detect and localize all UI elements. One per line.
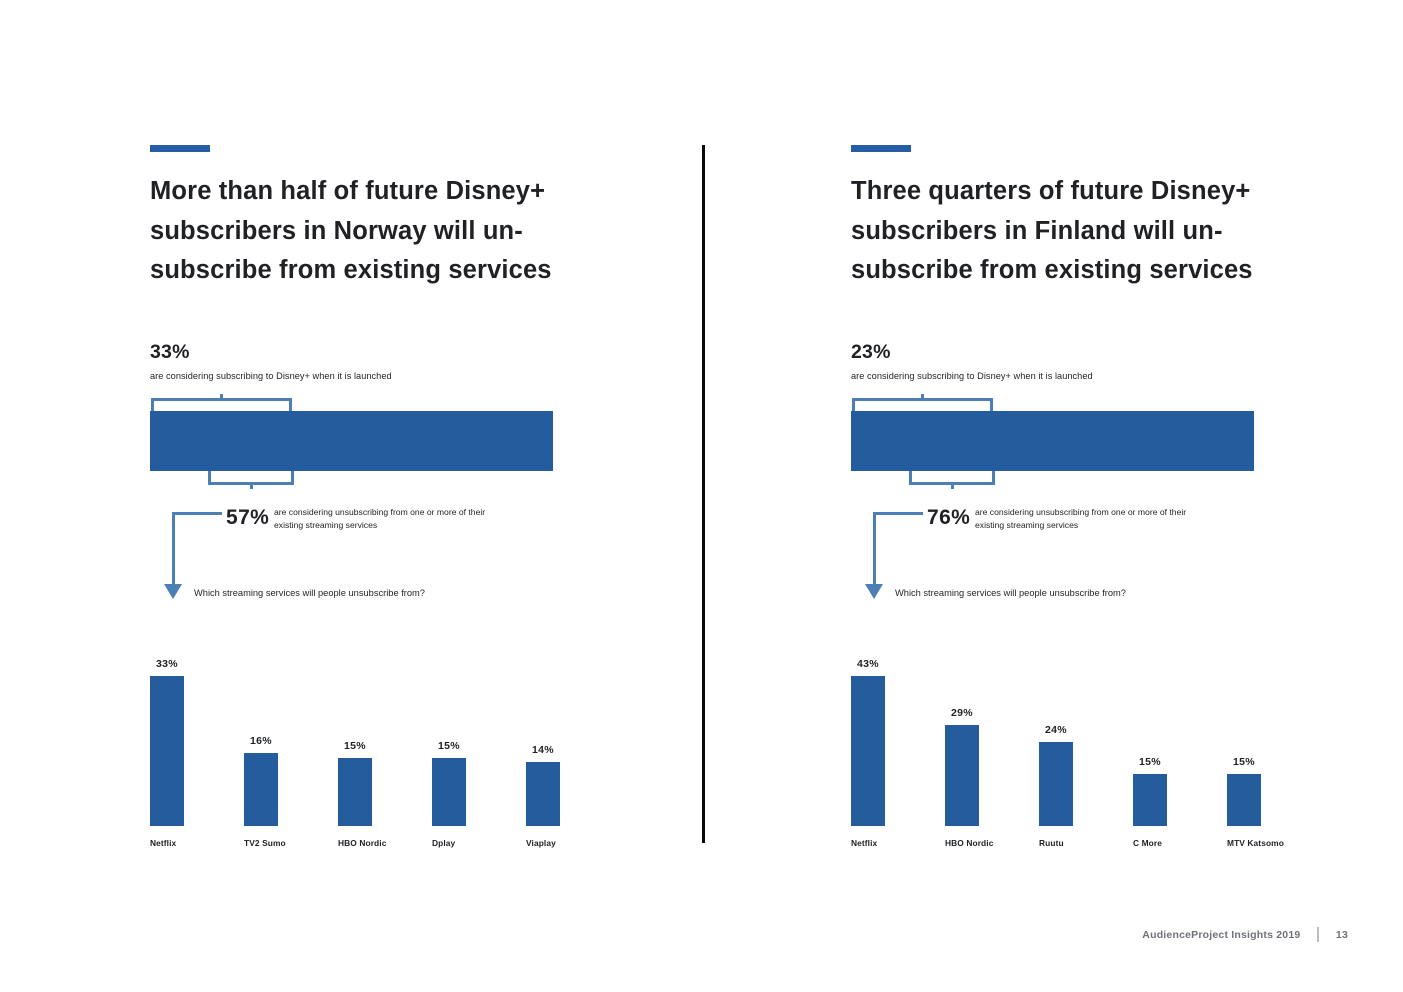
elbow-horizontal-icon: [873, 512, 923, 515]
accent-bar: [851, 145, 911, 152]
page-title: Three quarters of future Disney+ subscri…: [851, 172, 1321, 291]
bar-group: 29%HBO Nordic: [945, 648, 1039, 848]
elbow-horizontal-icon: [172, 512, 222, 515]
stat-subscribe-description: are considering subscribing to Disney+ w…: [150, 371, 392, 381]
arrow-down-icon: [164, 584, 182, 599]
bar-value-label: 24%: [1039, 724, 1073, 736]
bar: [1133, 774, 1167, 826]
stat-subscribe-description: are considering subscribing to Disney+ w…: [851, 371, 1093, 381]
bar: [150, 676, 184, 826]
bar: [338, 758, 372, 826]
bar: [851, 676, 885, 826]
elbow-vertical-icon: [873, 512, 876, 586]
bar-group: 15%HBO Nordic: [338, 648, 432, 848]
bar-value-label: 33%: [150, 658, 184, 670]
bar-category-label: TV2 Sumo: [244, 838, 286, 848]
bar: [1039, 742, 1073, 826]
bar-value-label: 16%: [244, 735, 278, 747]
bracket-bottom-icon: [208, 471, 294, 485]
arrow-down-icon: [865, 584, 883, 599]
bar-value-label: 43%: [851, 658, 885, 670]
bar-value-label: 15%: [1133, 756, 1167, 768]
bracket-tick-icon: [250, 482, 253, 489]
footer-separator: [1317, 927, 1319, 942]
page-number: 13: [1336, 929, 1348, 941]
accent-bar: [150, 145, 210, 152]
bar-group: 14%Viaplay: [526, 648, 620, 848]
bracket-bottom-icon: [909, 471, 995, 485]
bar-group: 33%Netflix: [150, 648, 244, 848]
bar-category-label: Dplay: [432, 838, 455, 848]
bar-group: 15%MTV Katsomo: [1227, 648, 1321, 848]
bar-category-label: MTV Katsomo: [1227, 838, 1284, 848]
bar: [945, 725, 979, 826]
chart-question: Which streaming services will people uns…: [194, 588, 425, 598]
bar-value-label: 15%: [338, 740, 372, 752]
bar-chart-norway: 33%Netflix16%TV2 Sumo15%HBO Nordic15%Dpl…: [150, 648, 570, 848]
stat-subscribe-value: 33%: [150, 341, 190, 364]
footer: AudienceProject Insights 2019 13: [1142, 927, 1348, 942]
bar-group: 15%C More: [1133, 648, 1227, 848]
bar: [244, 753, 278, 826]
chart-question: Which streaming services will people uns…: [895, 588, 1126, 598]
bar-value-label: 14%: [526, 744, 560, 756]
bar-value-label: 29%: [945, 707, 979, 719]
bar: [526, 762, 560, 826]
bar-chart-finland: 43%Netflix29%HBO Nordic24%Ruutu15%C More…: [851, 648, 1271, 848]
bracket-tick-icon: [220, 394, 223, 401]
stat-subscribe-value: 23%: [851, 341, 891, 364]
bar: [432, 758, 466, 826]
bar-group: 24%Ruutu: [1039, 648, 1133, 848]
bar-category-label: Netflix: [150, 838, 176, 848]
bar-value-label: 15%: [432, 740, 466, 752]
stat-unsubscribe-value: 57%: [226, 506, 269, 530]
bar-group: 43%Netflix: [851, 648, 945, 848]
panel-divider: [702, 145, 705, 843]
panel-finland: Three quarters of future Disney+ subscri…: [851, 0, 1403, 992]
bar: [1227, 774, 1261, 826]
bar-category-label: HBO Nordic: [945, 838, 993, 848]
stat-unsubscribe-value: 76%: [927, 506, 970, 530]
bar-category-label: C More: [1133, 838, 1162, 848]
bar-category-label: HBO Nordic: [338, 838, 386, 848]
bar-value-label: 15%: [1227, 756, 1261, 768]
elbow-vertical-icon: [172, 512, 175, 586]
proportion-block-bar: [150, 411, 553, 471]
page-title: More than half of future Disney+ subscri…: [150, 172, 620, 291]
panel-norway: More than half of future Disney+ subscri…: [150, 0, 710, 992]
proportion-block-bar: [851, 411, 1254, 471]
bracket-tick-icon: [921, 394, 924, 401]
stat-unsubscribe-description: are considering unsubscribing from one o…: [975, 506, 1215, 531]
bar-category-label: Viaplay: [526, 838, 556, 848]
bracket-tick-icon: [951, 482, 954, 489]
stat-unsubscribe-description: are considering unsubscribing from one o…: [274, 506, 514, 531]
bar-category-label: Ruutu: [1039, 838, 1064, 848]
bar-group: 16%TV2 Sumo: [244, 648, 338, 848]
bar-group: 15%Dplay: [432, 648, 526, 848]
footer-source: AudienceProject Insights 2019: [1142, 929, 1300, 941]
bar-category-label: Netflix: [851, 838, 877, 848]
